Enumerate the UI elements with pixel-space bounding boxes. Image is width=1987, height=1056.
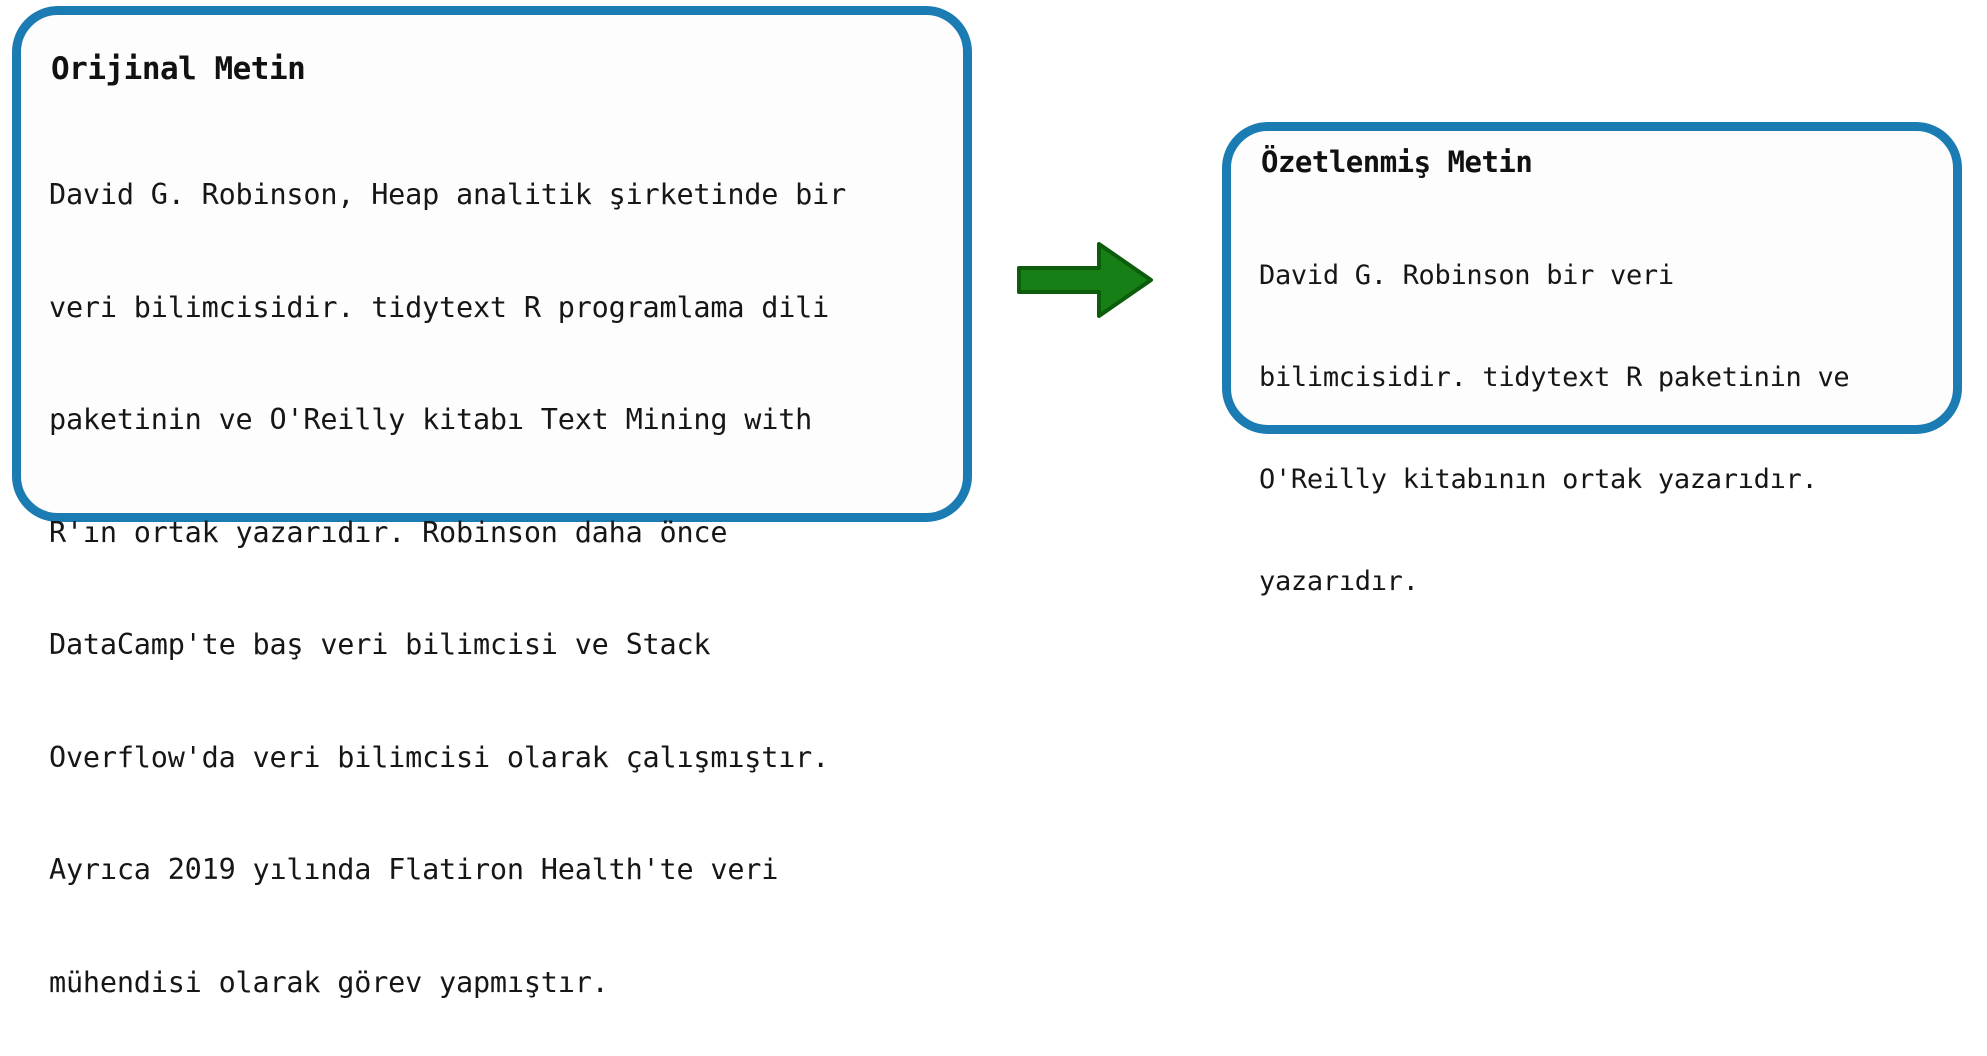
summary-panel-content: Özetlenmiş Metin David G. Robinson bir v… — [1231, 131, 1289, 207]
original-text-line: Ayrıca 2019 yılında Flatiron Health'te v… — [49, 851, 846, 889]
original-text-panel: Orijinal Metin David G. Robinson, Heap a… — [12, 6, 972, 522]
summary-text-line: yazarıdır. — [1259, 565, 1849, 599]
arrow-right-glyph — [1015, 238, 1155, 322]
original-text-title: Orijinal Metin — [51, 51, 305, 87]
summarized-text-title: Özetlenmiş Metin — [1261, 145, 1532, 179]
original-text-line: R'ın ortak yazarıdır. Robinson daha önce — [49, 514, 846, 552]
original-text-line: DataCamp'te baş veri bilimcisi ve Stack — [49, 626, 846, 664]
summary-text-line: David G. Robinson bir veri — [1259, 259, 1849, 293]
original-text-line: Overflow'da veri bilimcisi olarak çalışm… — [49, 739, 846, 777]
original-text-line: veri bilimcisidir. tidytext R programlam… — [49, 289, 846, 327]
summarized-text-body: David G. Robinson bir veri bilimcisidir.… — [1259, 191, 1849, 667]
original-text-line: David G. Robinson, Heap analitik şirketi… — [49, 176, 846, 214]
summary-text-line: bilimcisidir. tidytext R paketinin ve — [1259, 361, 1849, 395]
arrow-right-shape — [1019, 244, 1151, 316]
summarization-flow-diagram: Orijinal Metin David G. Robinson, Heap a… — [0, 0, 1987, 528]
arrow-right-icon — [1015, 238, 1155, 322]
original-text-body: David G. Robinson, Heap analitik şirketi… — [49, 101, 846, 1056]
original-panel-content: Orijinal Metin David G. Robinson, Heap a… — [21, 15, 79, 91]
original-text-line: paketinin ve O'Reilly kitabı Text Mining… — [49, 401, 846, 439]
summary-text-line: O'Reilly kitabının ortak yazarıdır. — [1259, 463, 1849, 497]
summarized-text-panel: Özetlenmiş Metin David G. Robinson bir v… — [1222, 122, 1962, 434]
original-text-line: mühendisi olarak görev yapmıştır. — [49, 964, 846, 1002]
